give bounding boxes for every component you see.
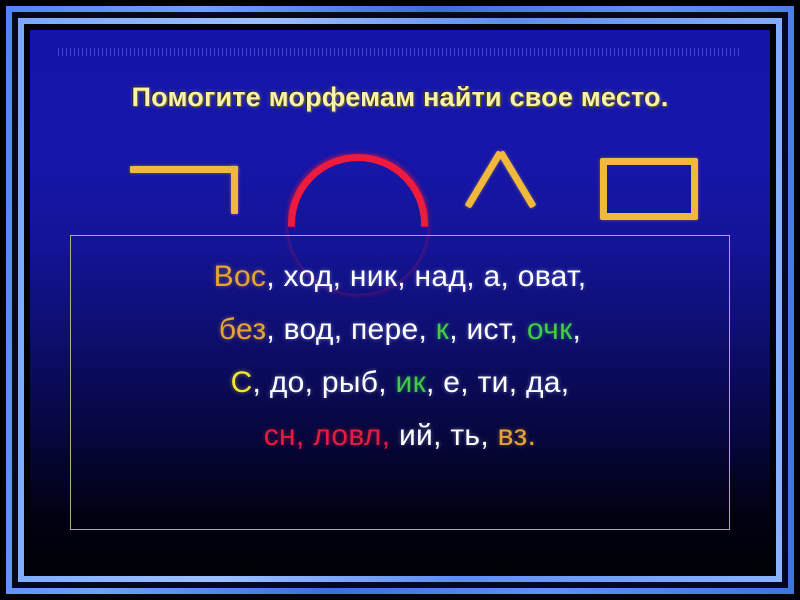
morpheme-token: ,: [480, 419, 497, 452]
suffix-symbol-icon: [462, 152, 536, 214]
morpheme-token: к: [436, 313, 449, 346]
morpheme-token: очк: [527, 313, 573, 346]
morpheme-token: ,: [578, 260, 587, 293]
page-title: Помогите морфемам найти свое место.: [30, 82, 770, 113]
morpheme-token: ,: [460, 366, 477, 399]
morpheme-token: ,: [426, 366, 443, 399]
morpheme-token: ,: [561, 366, 570, 399]
morpheme-token: ,: [433, 419, 450, 452]
morpheme-token: ий: [399, 419, 433, 452]
root-symbol-icon: [288, 154, 428, 226]
morpheme-token: ,: [510, 313, 527, 346]
morpheme-token: ,: [382, 419, 399, 452]
morpheme-token: ик: [396, 366, 426, 399]
morpheme-token: вод: [284, 313, 334, 346]
morpheme-token: ,: [305, 366, 322, 399]
prefix-bar: [130, 166, 238, 173]
morpheme-token: ник: [350, 260, 397, 293]
slide-canvas: Помогите морфемам найти свое место. Вос,…: [30, 30, 770, 570]
morpheme-token: ,: [296, 419, 313, 452]
morpheme-token: ,: [333, 260, 350, 293]
morpheme-token: пере: [351, 313, 419, 346]
slide-root: Помогите морфемам найти свое место. Вос,…: [0, 0, 800, 600]
morpheme-token: ,: [418, 313, 435, 346]
morpheme-line: Вос, ход, ник, над, а, оват,: [71, 262, 729, 292]
suffix-leg-right: [465, 150, 504, 208]
morpheme-token: рыб: [322, 366, 378, 399]
morpheme-token: ,: [466, 260, 483, 293]
prefix-hook: [231, 166, 238, 214]
morpheme-token: ,: [378, 366, 395, 399]
ending-symbol-icon: [600, 158, 698, 220]
morpheme-token: без: [219, 313, 267, 346]
morpheme-token: над: [415, 260, 467, 293]
decorative-dotted-band: [58, 48, 742, 56]
morpheme-symbol-row: [30, 138, 770, 218]
prefix-symbol-icon: [130, 166, 238, 214]
morpheme-token: ход: [284, 260, 333, 293]
morpheme-line: С, до, рыб, ик, е, ти, да,: [71, 368, 729, 398]
morpheme-token: ти: [478, 366, 509, 399]
morpheme-token: ловл: [313, 419, 381, 452]
morpheme-token: ,: [397, 260, 414, 293]
morpheme-token: .: [528, 419, 537, 452]
suffix-leg-left: [497, 150, 536, 208]
morpheme-token: ,: [266, 260, 283, 293]
morpheme-token: ист: [466, 313, 509, 346]
morpheme-token: Вос: [214, 260, 267, 293]
morpheme-token: оват: [518, 260, 578, 293]
morpheme-token: да: [526, 366, 561, 399]
morpheme-token: ,: [266, 313, 283, 346]
morpheme-token: вз: [498, 419, 528, 452]
morpheme-token: ,: [501, 260, 518, 293]
morpheme-token: ,: [334, 313, 351, 346]
morpheme-token: а: [484, 260, 501, 293]
morpheme-token: С: [231, 366, 253, 399]
morpheme-token: до: [270, 366, 305, 399]
morpheme-line: сн, ловл, ий, ть, вз.: [71, 421, 729, 451]
morpheme-token: ,: [449, 313, 466, 346]
morpheme-line: без, вод, пере, к, ист, очк,: [71, 315, 729, 345]
morpheme-token: ,: [509, 366, 526, 399]
morpheme-token: ,: [253, 366, 270, 399]
morpheme-list-box: Вос, ход, ник, над, а, оват, без, вод, п…: [70, 235, 730, 530]
morpheme-token: ,: [573, 313, 582, 346]
morpheme-token: е: [443, 366, 460, 399]
morpheme-token: сн: [264, 419, 296, 452]
morpheme-token: ть: [450, 419, 480, 452]
